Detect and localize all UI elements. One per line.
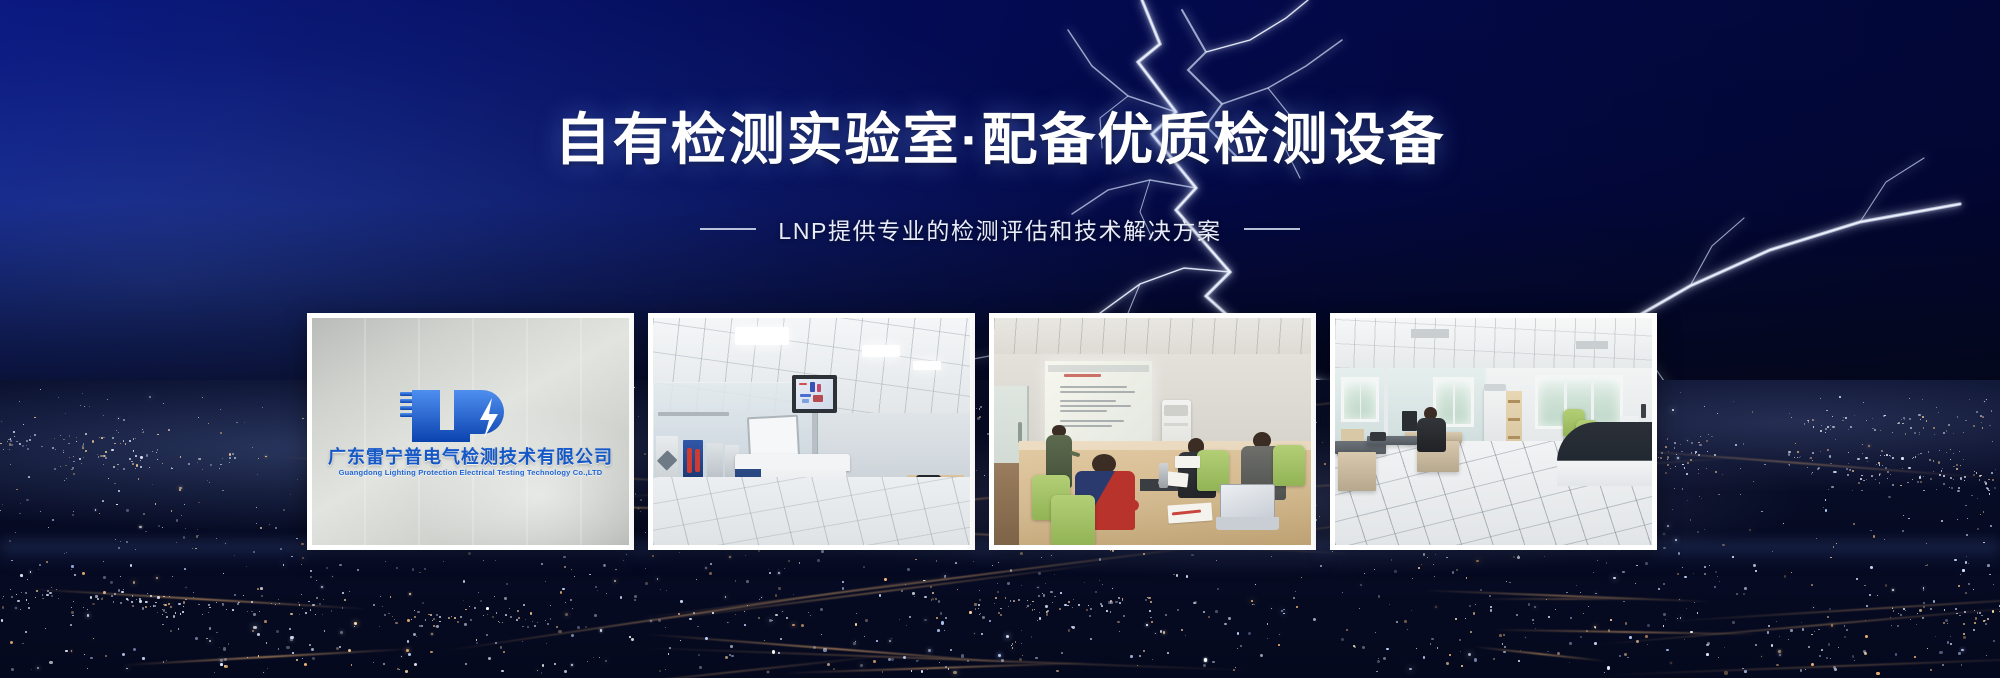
city-light xyxy=(801,624,804,627)
city-light xyxy=(1829,455,1831,457)
city-light xyxy=(117,464,118,465)
city-light xyxy=(1569,642,1572,645)
city-light xyxy=(1926,420,1928,422)
city-light xyxy=(658,619,661,622)
city-light xyxy=(1935,636,1936,637)
city-light xyxy=(117,469,118,470)
city-light xyxy=(1237,648,1239,650)
city-light xyxy=(252,630,254,632)
city-light xyxy=(556,626,558,628)
city-light xyxy=(98,456,99,457)
city-light xyxy=(1595,593,1597,595)
city-light xyxy=(206,638,207,639)
city-light xyxy=(145,601,147,603)
city-light xyxy=(1203,664,1206,667)
city-light xyxy=(1957,519,1958,520)
city-light xyxy=(746,580,749,583)
city-light xyxy=(530,612,532,614)
city-light xyxy=(1468,653,1471,656)
city-light xyxy=(522,626,523,627)
city-light xyxy=(1260,654,1263,657)
city-light xyxy=(149,396,151,398)
city-light xyxy=(1779,654,1781,656)
city-light xyxy=(315,614,316,615)
wall-monitor xyxy=(792,375,836,414)
city-light xyxy=(1623,601,1625,603)
city-light xyxy=(1868,445,1870,447)
page-subtitle: LNP提供专业的检测评估和技术解决方案 xyxy=(778,212,1221,246)
city-light xyxy=(139,526,141,528)
photo-open-office xyxy=(1335,318,1652,545)
city-light xyxy=(891,658,893,660)
city-light xyxy=(1923,476,1924,477)
city-light xyxy=(1217,588,1219,590)
city-light xyxy=(495,642,497,644)
city-light xyxy=(263,672,265,674)
city-light xyxy=(1594,642,1597,645)
city-light xyxy=(888,658,891,661)
city-light xyxy=(421,625,423,627)
city-light xyxy=(1446,557,1447,558)
ceiling-light xyxy=(735,327,789,345)
city-light xyxy=(1744,587,1747,590)
city-light xyxy=(808,612,809,613)
city-light xyxy=(731,655,734,658)
city-light xyxy=(256,523,257,524)
city-light xyxy=(1084,582,1085,583)
city-light xyxy=(164,604,166,606)
city-light xyxy=(495,560,496,561)
city-light xyxy=(1647,624,1650,627)
city-light xyxy=(899,619,900,620)
city-light xyxy=(1068,601,1070,603)
city-light xyxy=(525,619,526,620)
city-light xyxy=(69,457,70,458)
city-light xyxy=(1811,663,1814,666)
city-light xyxy=(1099,558,1101,560)
city-light xyxy=(232,453,234,455)
city-light xyxy=(698,654,700,656)
city-light xyxy=(924,619,927,622)
city-light xyxy=(63,450,64,451)
city-light xyxy=(1687,440,1688,441)
city-light xyxy=(135,549,136,550)
city-light xyxy=(1852,490,1853,491)
city-light xyxy=(1828,643,1830,645)
city-light xyxy=(46,561,48,563)
city-light xyxy=(9,540,11,542)
city-light xyxy=(1753,564,1756,567)
city-light xyxy=(17,441,18,442)
city-light xyxy=(1006,635,1009,638)
city-light xyxy=(1150,601,1152,603)
city-light xyxy=(571,569,572,570)
city-light xyxy=(1714,586,1716,588)
city-light xyxy=(1923,606,1925,608)
counter-paper xyxy=(1620,416,1639,423)
city-light xyxy=(1939,450,1940,451)
city-light xyxy=(1672,409,1674,411)
city-light xyxy=(210,464,212,466)
city-light xyxy=(1865,457,1867,459)
city-light xyxy=(1613,577,1615,579)
city-light xyxy=(454,617,455,618)
city-light xyxy=(1848,429,1849,430)
city-light xyxy=(1715,471,1717,473)
city-light xyxy=(1980,415,1982,417)
city-light xyxy=(680,640,681,641)
city-light xyxy=(236,422,238,424)
city-light xyxy=(545,620,546,621)
city-light xyxy=(1882,465,1883,466)
city-light xyxy=(1926,543,1927,544)
gallery-card-company-logo-wall[interactable]: 广东雷宁普电气检测技术有限公司 Guangdong Lighting Prote… xyxy=(307,313,634,550)
city-light xyxy=(492,616,494,618)
city-light xyxy=(532,621,533,622)
city-light xyxy=(16,489,17,490)
city-light xyxy=(451,616,453,618)
city-light xyxy=(312,604,314,606)
city-light xyxy=(1313,618,1316,621)
city-light xyxy=(157,449,158,450)
city-light xyxy=(1674,488,1675,489)
city-light xyxy=(165,612,167,614)
city-light xyxy=(1173,574,1175,576)
city-light xyxy=(1533,623,1535,625)
city-light xyxy=(1383,657,1386,660)
city-light xyxy=(30,436,31,437)
city-light xyxy=(1271,608,1273,610)
city-light xyxy=(652,555,654,557)
city-light xyxy=(957,589,958,590)
city-light xyxy=(1816,538,1817,539)
city-light xyxy=(1627,657,1628,658)
city-light xyxy=(81,463,82,464)
city-light xyxy=(1866,420,1867,421)
hero-banner: 自有检测实验室·配备优质检测设备 LNP提供专业的检测评估和技术解决方案 xyxy=(0,0,2000,678)
city-light xyxy=(901,590,903,592)
city-light xyxy=(1100,603,1102,605)
city-light xyxy=(523,604,525,606)
city-light xyxy=(1827,616,1829,618)
city-light xyxy=(267,668,268,669)
city-light xyxy=(60,466,61,467)
city-light xyxy=(183,606,184,607)
city-light xyxy=(1946,430,1948,432)
city-light xyxy=(1165,614,1167,616)
city-light xyxy=(49,592,51,594)
city-light xyxy=(247,611,248,612)
city-light xyxy=(283,564,284,565)
city-light xyxy=(123,419,125,421)
city-light xyxy=(1848,463,1849,464)
city-light xyxy=(1278,644,1280,646)
city-light xyxy=(156,452,157,453)
city-light xyxy=(63,439,64,440)
city-light xyxy=(1905,433,1907,435)
city-light xyxy=(76,441,77,442)
city-light xyxy=(1858,482,1860,484)
city-light xyxy=(1923,602,1925,604)
city-light xyxy=(1015,641,1016,642)
city-light xyxy=(71,611,74,614)
window xyxy=(1341,377,1379,422)
city-light xyxy=(1566,592,1567,593)
city-light xyxy=(76,437,77,438)
city-light xyxy=(945,666,946,667)
city-light xyxy=(1923,589,1924,590)
city-light xyxy=(767,671,770,674)
city-light xyxy=(1973,425,1974,426)
city-light xyxy=(1958,652,1961,655)
city-light-streak xyxy=(1482,598,1650,600)
city-light xyxy=(1060,592,1062,594)
city-light xyxy=(565,613,568,616)
city-light xyxy=(433,618,435,620)
city-light xyxy=(120,541,121,542)
city-light xyxy=(136,599,137,600)
city-light xyxy=(1279,634,1280,635)
city-light xyxy=(903,656,906,659)
subtitle-row: LNP提供专业的检测评估和技术解决方案 xyxy=(0,212,2000,246)
city-light xyxy=(1950,459,1951,460)
city-light xyxy=(1879,482,1880,483)
city-light xyxy=(105,655,107,657)
city-light xyxy=(1752,411,1753,412)
city-light xyxy=(1251,600,1253,602)
city-light xyxy=(1283,609,1285,611)
city-light xyxy=(1704,529,1705,530)
city-light xyxy=(336,647,339,650)
city-light-streak xyxy=(1666,594,2000,623)
city-light xyxy=(229,453,231,455)
city-light xyxy=(1503,651,1505,653)
city-light xyxy=(1548,616,1550,618)
city-light xyxy=(1039,617,1041,619)
city-light xyxy=(1886,454,1888,456)
city-light xyxy=(1119,602,1121,604)
city-light xyxy=(884,578,886,580)
city-light xyxy=(73,461,74,462)
city-light xyxy=(1944,609,1945,610)
city-light xyxy=(416,636,417,637)
city-light xyxy=(856,613,857,614)
city-light xyxy=(113,466,115,468)
city-light xyxy=(1918,414,1920,416)
city-light xyxy=(1412,578,1413,579)
city-light xyxy=(97,454,98,455)
city-light xyxy=(1506,581,1507,582)
city-light xyxy=(660,589,661,590)
city-light xyxy=(269,524,270,525)
city-light xyxy=(1779,636,1781,638)
city-light xyxy=(1958,585,1960,587)
city-light xyxy=(220,659,223,662)
city-light xyxy=(937,629,940,632)
gallery-card-testing-laboratory[interactable] xyxy=(648,313,975,550)
city-light xyxy=(257,633,260,636)
city-light xyxy=(1933,600,1936,603)
city-light xyxy=(1994,487,1996,489)
city-light xyxy=(396,567,398,569)
city-light xyxy=(1047,610,1049,612)
city-light xyxy=(80,405,81,406)
city-light xyxy=(103,576,106,579)
city-light xyxy=(994,603,995,604)
city-light xyxy=(1281,610,1283,612)
city-light xyxy=(833,668,835,670)
monitor-screen xyxy=(796,379,832,410)
city-light xyxy=(1986,399,1987,400)
city-light xyxy=(1718,494,1719,495)
city-light xyxy=(216,632,218,634)
city-light xyxy=(1130,655,1132,657)
city-light xyxy=(2,598,3,599)
city-light xyxy=(978,604,979,605)
city-light xyxy=(1811,584,1813,586)
city-light xyxy=(501,670,503,672)
city-light xyxy=(1854,415,1855,416)
city-light xyxy=(120,576,121,577)
city-light xyxy=(65,413,66,414)
city-light xyxy=(1870,530,1871,531)
city-light xyxy=(1143,553,1145,555)
city-light xyxy=(1876,672,1879,675)
city-light xyxy=(1799,457,1800,458)
city-light xyxy=(87,609,88,610)
city-light xyxy=(860,664,863,667)
city-light xyxy=(1892,589,1894,591)
city-light xyxy=(571,634,574,637)
city-light xyxy=(20,503,21,504)
city-light xyxy=(1480,589,1482,591)
city-light xyxy=(29,439,31,441)
city-light xyxy=(184,568,186,570)
city-light xyxy=(1434,576,1435,577)
city-light xyxy=(1995,469,1996,470)
city-light xyxy=(476,639,478,641)
city-light xyxy=(1812,472,1813,473)
city-light xyxy=(1636,565,1637,566)
city-light xyxy=(1041,557,1042,558)
city-light xyxy=(1677,457,1679,459)
city-light xyxy=(142,657,144,659)
city-light xyxy=(1146,624,1148,626)
city-light xyxy=(1359,608,1360,609)
city-light xyxy=(1449,654,1451,656)
city-light xyxy=(1975,617,1978,620)
city-light xyxy=(1900,485,1901,486)
city-light xyxy=(747,605,748,606)
city-light xyxy=(1517,556,1520,559)
city-light xyxy=(1469,605,1472,608)
city-light xyxy=(940,612,943,615)
city-light xyxy=(1431,638,1433,640)
city-light xyxy=(1971,495,1973,497)
photo-gallery: 广东雷宁普电气检测技术有限公司 Guangdong Lighting Prote… xyxy=(307,313,1657,550)
city-light xyxy=(1706,468,1707,469)
city-light xyxy=(413,633,416,636)
city-light xyxy=(390,596,392,598)
rule-right-icon xyxy=(1244,228,1300,230)
city-light xyxy=(1861,475,1863,477)
city-light xyxy=(198,604,200,606)
city-light xyxy=(745,555,746,556)
city-light xyxy=(768,569,769,570)
city-light xyxy=(696,579,697,580)
city-light xyxy=(120,443,121,444)
city-light xyxy=(1993,584,1994,585)
city-light xyxy=(2,504,3,505)
city-light xyxy=(1831,486,1833,488)
city-light xyxy=(302,418,303,419)
city-light xyxy=(941,621,944,624)
city-light xyxy=(178,628,180,630)
city-light xyxy=(1699,444,1701,446)
city-light xyxy=(304,663,307,666)
city-light xyxy=(1880,430,1881,431)
city-light xyxy=(1110,611,1111,612)
city-light xyxy=(1943,483,1945,485)
city-light xyxy=(1923,490,1924,491)
city-light xyxy=(998,654,1001,657)
city-light xyxy=(1912,458,1913,459)
city-light xyxy=(143,513,145,515)
city-light xyxy=(1905,610,1906,611)
city-light xyxy=(41,446,43,448)
desk-pedestal xyxy=(1338,452,1376,491)
city-light xyxy=(1296,606,1298,608)
city-light xyxy=(1983,511,1985,513)
city-light xyxy=(145,606,147,608)
city-light xyxy=(1706,644,1709,647)
city-light xyxy=(1706,440,1708,442)
city-light xyxy=(1038,595,1039,596)
city-light xyxy=(1865,620,1866,621)
city-light xyxy=(1597,560,1598,561)
city-light xyxy=(140,460,141,461)
city-light xyxy=(1953,433,1954,434)
city-light xyxy=(563,556,565,558)
gallery-card-open-office[interactable] xyxy=(1330,313,1657,550)
city-light xyxy=(342,592,344,594)
city-light xyxy=(394,619,395,620)
city-light xyxy=(820,608,823,611)
city-light xyxy=(1674,447,1676,449)
desk-box xyxy=(1341,429,1363,440)
city-light xyxy=(1965,505,1967,507)
city-light xyxy=(1950,643,1951,644)
city-light xyxy=(1950,477,1952,479)
city-light xyxy=(52,519,54,521)
city-light xyxy=(1595,627,1597,629)
city-light xyxy=(973,561,974,562)
city-light xyxy=(1832,426,1834,428)
city-light xyxy=(465,609,467,611)
city-light xyxy=(1095,591,1097,593)
city-light xyxy=(1407,629,1408,630)
city-light xyxy=(1869,594,1871,596)
city-light xyxy=(1101,605,1103,607)
city-light xyxy=(264,620,267,623)
city-light xyxy=(1518,660,1521,663)
city-light xyxy=(100,455,102,457)
city-light xyxy=(1493,658,1495,660)
city-light xyxy=(132,605,134,607)
gallery-card-meeting-room[interactable] xyxy=(989,313,1316,550)
city-light xyxy=(1706,653,1709,656)
city-light xyxy=(735,580,736,581)
